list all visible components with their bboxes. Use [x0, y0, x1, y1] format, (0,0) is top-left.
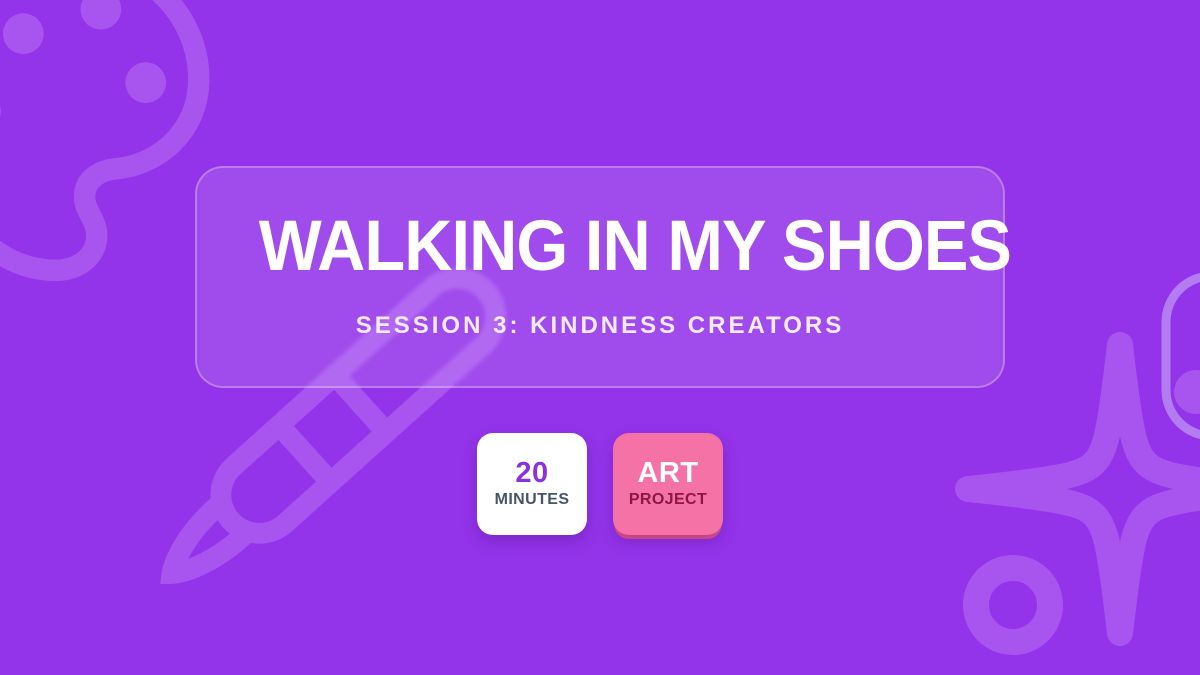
badge-row: 20 MINUTES ART PROJECT: [477, 433, 723, 535]
page-title: WALKING IN MY SHOES: [259, 212, 941, 282]
activity-type-label: PROJECT: [629, 491, 707, 509]
duration-value: 20: [515, 458, 548, 488]
duration-badge: 20 MINUTES: [477, 433, 587, 535]
slide-canvas: WALKING IN MY SHOES SESSION 3: KINDNESS …: [0, 0, 1200, 675]
slide-content: WALKING IN MY SHOES SESSION 3: KINDNESS …: [0, 0, 1200, 675]
session-subtitle: SESSION 3: KINDNESS CREATORS: [237, 312, 963, 340]
duration-unit: MINUTES: [495, 491, 570, 509]
activity-type-badge: ART PROJECT: [613, 433, 723, 535]
activity-type-value: ART: [637, 458, 698, 488]
title-card: WALKING IN MY SHOES SESSION 3: KINDNESS …: [195, 166, 1005, 388]
